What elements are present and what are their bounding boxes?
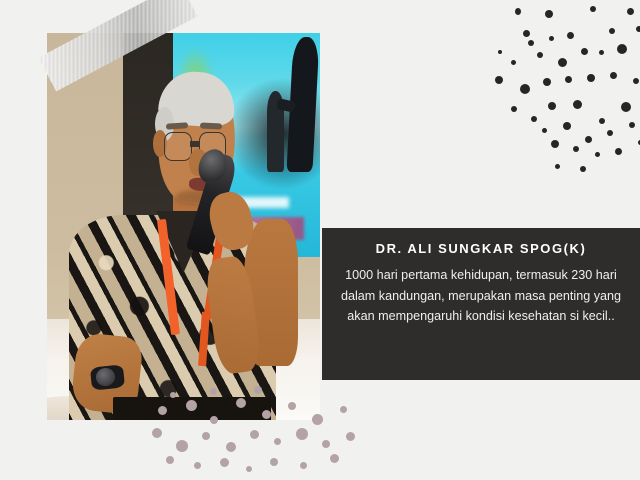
dot: [176, 440, 188, 452]
speaker-photo: [47, 33, 320, 420]
dot: [585, 136, 592, 143]
dot: [548, 102, 556, 110]
dot-cluster-dark: [495, 0, 640, 180]
quote-text: 1000 hari pertama kehidupan, termasuk 23…: [340, 265, 622, 326]
photo-table: [113, 397, 271, 420]
dot: [220, 458, 229, 467]
slide-canvas: DR. ALI SUNGKAR SPOG(K) 1000 hari pertam…: [0, 0, 640, 480]
dot: [609, 28, 615, 34]
dot: [520, 84, 530, 94]
speaker-name-heading: DR. ALI SUNGKAR SPOG(K): [340, 242, 622, 256]
dot: [599, 118, 605, 124]
dot: [226, 442, 236, 452]
glasses-bridge: [190, 141, 199, 146]
dot: [567, 32, 574, 39]
quote-panel: DR. ALI SUNGKAR SPOG(K) 1000 hari pertam…: [322, 228, 640, 380]
dot: [166, 456, 174, 464]
dot: [495, 76, 503, 84]
dot: [558, 58, 567, 67]
dot: [573, 146, 579, 152]
dot: [599, 50, 604, 55]
dot: [296, 428, 308, 440]
dot: [633, 78, 639, 84]
dot: [615, 148, 622, 155]
dot: [545, 10, 553, 18]
dot: [537, 52, 543, 58]
dot: [610, 72, 617, 79]
dot: [194, 462, 201, 469]
dot: [152, 428, 162, 438]
dot: [621, 102, 631, 112]
dot: [498, 50, 502, 54]
dot: [581, 48, 588, 55]
dot: [250, 430, 259, 439]
dot: [202, 432, 210, 440]
glasses-lens-left: [164, 132, 192, 161]
dot: [563, 122, 571, 130]
dot: [629, 122, 635, 128]
dot: [346, 432, 355, 441]
dot: [607, 130, 613, 136]
dot: [523, 30, 530, 37]
dot: [515, 8, 521, 15]
dot: [511, 60, 516, 65]
dot: [636, 26, 640, 32]
dot: [274, 438, 281, 445]
dot: [549, 36, 554, 41]
dot: [551, 140, 559, 148]
dot: [528, 40, 534, 46]
speaker-figure: [47, 33, 320, 420]
dot: [330, 454, 339, 463]
dot: [543, 78, 551, 86]
dot: [573, 100, 582, 109]
dot: [542, 128, 547, 133]
photo-content: [47, 33, 320, 420]
dot: [340, 406, 347, 413]
dot: [627, 8, 634, 15]
dot: [587, 74, 595, 82]
dot: [580, 166, 586, 172]
quote-content: DR. ALI SUNGKAR SPOG(K) 1000 hari pertam…: [322, 228, 640, 336]
dot: [270, 458, 278, 466]
dot: [617, 44, 627, 54]
dot: [555, 164, 560, 169]
dot: [565, 76, 572, 83]
dot: [246, 466, 252, 472]
dot: [511, 106, 517, 112]
dot: [590, 6, 596, 12]
dot: [322, 440, 330, 448]
dot: [595, 152, 600, 157]
dot: [300, 462, 307, 469]
dot: [531, 116, 537, 122]
